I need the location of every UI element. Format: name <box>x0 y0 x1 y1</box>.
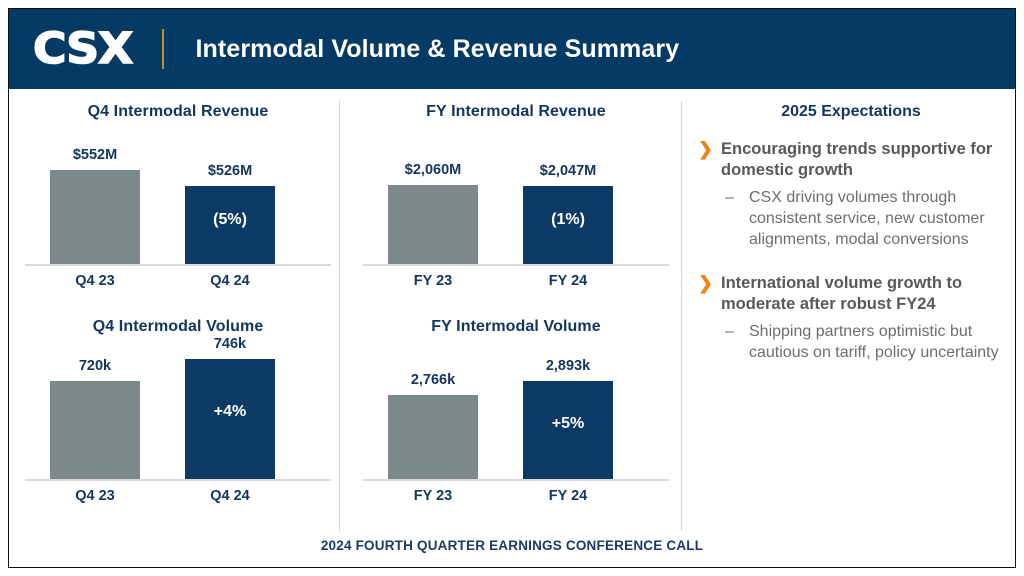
chart-q4-intermodal-volume: Q4 Intermodal Volume 720k Q4 23 746k +4%… <box>13 312 343 527</box>
bar-value-label: 2,766k <box>388 372 478 388</box>
bar-change-label: +5% <box>523 415 613 433</box>
chart-plot-area: 720k Q4 23 746k +4% Q4 24 <box>13 340 343 505</box>
bullet-text: Encouraging trends supportive for domest… <box>721 140 992 179</box>
header-divider <box>162 29 164 69</box>
dash-icon: – <box>725 322 734 343</box>
chart-fy-intermodal-revenue: FY Intermodal Revenue $2,060M FY 23 $2,0… <box>351 97 681 312</box>
chart-baseline <box>363 479 669 481</box>
bar-group: $526M (5%) Q4 24 <box>185 186 275 264</box>
bar-value-label: $526M <box>185 163 275 179</box>
chevron-right-icon: ❯ <box>698 138 713 161</box>
list-item: ❯ International volume growth to moderat… <box>693 273 1003 315</box>
chart-plot-area: $2,060M FY 23 $2,047M (1%) FY 24 <box>351 125 681 290</box>
bar[interactable]: 2,766k FY 23 <box>388 395 478 479</box>
chart-q4-intermodal-revenue: Q4 Intermodal Revenue $552M Q4 23 $526M … <box>13 97 343 312</box>
slide-header: CSX Intermodal Volume & Revenue Summary <box>9 9 1015 89</box>
bar-group: 720k Q4 23 <box>50 381 140 479</box>
sub-list: – Shipping partners optimistic but cauti… <box>693 322 1003 364</box>
bullet-text: International volume growth to moderate … <box>721 274 962 313</box>
bar-group: $2,047M (1%) FY 24 <box>523 186 613 264</box>
chart-title: FY Intermodal Volume <box>351 318 681 336</box>
panel-divider-right <box>681 101 682 531</box>
bar-group: 2,893k +5% FY 24 <box>523 381 613 479</box>
chart-title: Q4 Intermodal Volume <box>13 318 343 336</box>
bar-change-label: (5%) <box>185 211 275 229</box>
bar-group: $2,060M FY 23 <box>388 185 478 264</box>
bar[interactable]: $2,047M (1%) FY 24 <box>523 186 613 264</box>
bar[interactable]: 2,893k +5% FY 24 <box>523 381 613 479</box>
list-item: – Shipping partners optimistic but cauti… <box>693 322 1003 364</box>
bar-category-label: FY 23 <box>388 488 478 504</box>
slide-footer: 2024 FOURTH QUARTER EARNINGS CONFERENCE … <box>9 538 1015 553</box>
chart-plot-area: 2,766k FY 23 2,893k +5% FY 24 <box>351 340 681 505</box>
slide-body: Q4 Intermodal Revenue $552M Q4 23 $526M … <box>9 89 1015 568</box>
bar-value-label: $552M <box>50 147 140 163</box>
bar-value-label: 746k <box>185 336 275 352</box>
bar-category-label: Q4 23 <box>50 273 140 289</box>
bar-category-label: Q4 24 <box>185 273 275 289</box>
expectations-list: ❯ Encouraging trends supportive for dome… <box>693 139 1003 363</box>
bar[interactable]: $552M Q4 23 <box>50 170 140 264</box>
dash-icon: – <box>725 188 734 209</box>
slide: CSX Intermodal Volume & Revenue Summary … <box>8 8 1016 568</box>
bar-value-label: 720k <box>50 358 140 374</box>
list-item: ❯ Encouraging trends supportive for dome… <box>693 139 1003 181</box>
bar-group: $552M Q4 23 <box>50 170 140 264</box>
chart-title: Q4 Intermodal Revenue <box>13 103 343 121</box>
bar-group: 2,766k FY 23 <box>388 395 478 479</box>
list-item: – CSX driving volumes through consistent… <box>693 188 1003 250</box>
sub-list: – CSX driving volumes through consistent… <box>693 188 1003 250</box>
chart-baseline <box>25 479 331 481</box>
expectations-title: 2025 Expectations <box>699 103 1003 121</box>
bar[interactable]: $2,060M FY 23 <box>388 185 478 264</box>
sub-bullet-text: Shipping partners optimistic but cautiou… <box>749 323 999 361</box>
page-title: Intermodal Volume & Revenue Summary <box>195 35 679 64</box>
bar[interactable]: 746k +4% Q4 24 <box>185 359 275 479</box>
chart-title: FY Intermodal Revenue <box>351 103 681 121</box>
bar-value-label: $2,060M <box>388 162 478 178</box>
chart-plot-area: $552M Q4 23 $526M (5%) Q4 24 <box>13 125 343 290</box>
bar-value-label: 2,893k <box>523 358 613 374</box>
bar-category-label: Q4 23 <box>50 488 140 504</box>
bar-change-label: +4% <box>185 403 275 421</box>
csx-logo-icon: CSX <box>33 28 132 71</box>
expectations-panel: 2025 Expectations ❯ Encouraging trends s… <box>693 97 1003 385</box>
bar-category-label: FY 23 <box>388 273 478 289</box>
bar[interactable]: 720k Q4 23 <box>50 381 140 479</box>
bar[interactable]: $526M (5%) Q4 24 <box>185 186 275 264</box>
sub-bullet-text: CSX driving volumes through consistent s… <box>749 189 985 248</box>
chart-fy-intermodal-volume: FY Intermodal Volume 2,766k FY 23 2,893k… <box>351 312 681 527</box>
bar-category-label: FY 24 <box>523 273 613 289</box>
chevron-right-icon: ❯ <box>698 272 713 295</box>
chart-baseline <box>25 264 331 266</box>
chart-baseline <box>363 264 669 266</box>
bar-value-label: $2,047M <box>523 163 613 179</box>
bar-category-label: Q4 24 <box>185 488 275 504</box>
bar-category-label: FY 24 <box>523 488 613 504</box>
bar-group: 746k +4% Q4 24 <box>185 359 275 479</box>
bar-change-label: (1%) <box>523 211 613 229</box>
